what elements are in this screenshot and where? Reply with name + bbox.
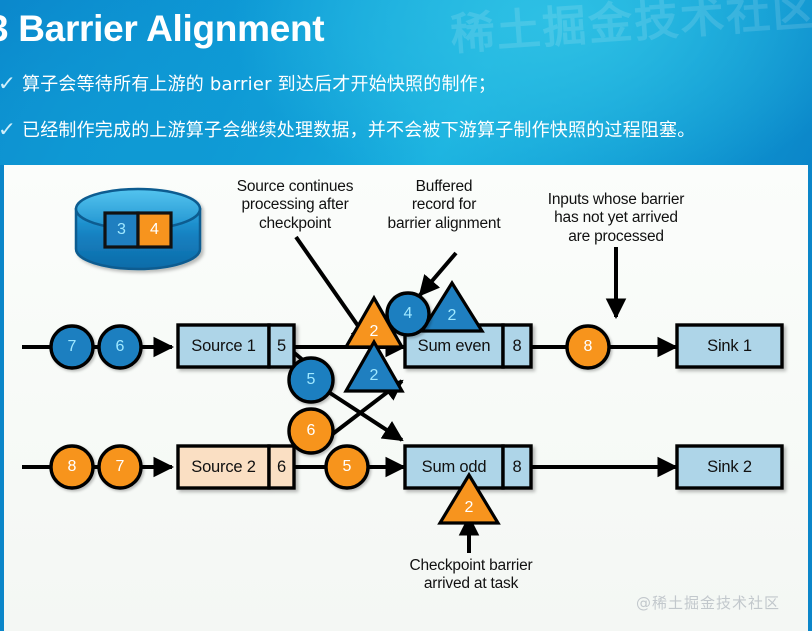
check-icon: ✓ [0, 117, 24, 142]
slide-header: 稀土掘金技术社区 3 Barrier Alignment ✓ 算子会等待所有上游… [0, 0, 812, 165]
annotation-source-continues: Source continues processing after checkp… [210, 178, 380, 233]
annotation-inputs-not-arrived: Inputs whose barrier has not yet arrived… [526, 191, 706, 246]
page-title: 3 Barrier Alignment [0, 8, 324, 50]
check-icon: ✓ [0, 71, 24, 96]
panel-watermark: @稀土掘金技术社区 [636, 592, 780, 613]
record-7-blue [51, 326, 93, 368]
barrier-odd-in-blue [346, 342, 402, 391]
record-6-blue [99, 326, 141, 368]
annotation-checkpoint-arrived: Checkpoint barrier arrived at task [381, 557, 561, 594]
header-watermark: 稀土掘金技术社区 [448, 0, 812, 63]
cross-arrow-to-sum-odd [330, 393, 402, 440]
bullet-text-1: 算子会等待所有上游的 barrier 到达后才开始快照的制作； [22, 70, 496, 96]
record-6-orange-mid [289, 409, 333, 453]
diagram-panel: Source 1 5 Source 2 6 Sum even 8 Sum odd… [0, 165, 812, 631]
slide-root: 稀土掘金技术社区 3 Barrier Alignment ✓ 算子会等待所有上游… [0, 0, 812, 631]
operator-source-1[interactable] [178, 325, 294, 367]
bullet-item-1: ✓ 算子会等待所有上游的 barrier 到达后才开始快照的制作； [0, 70, 496, 96]
operator-sink-1[interactable] [677, 325, 782, 367]
record-5-orange-mid [326, 446, 368, 488]
record-8-orange-sink1 [567, 326, 609, 368]
annotation-buffered-record: Buffered record for barrier alignment [360, 178, 528, 233]
operator-source-2[interactable] [178, 446, 294, 488]
state-cell-3 [105, 213, 138, 247]
state-cell-4 [138, 213, 171, 247]
operator-sink-2[interactable] [677, 446, 782, 488]
record-4-blue-sumeven [387, 293, 429, 335]
bullet-item-2: ✓ 已经制作完成的上游算子会继续处理数据，并不会被下游算子制作快照的过程阻塞。 [0, 116, 695, 142]
record-8-orange [51, 446, 93, 488]
bullet-text-2: 已经制作完成的上游算子会继续处理数据，并不会被下游算子制作快照的过程阻塞。 [22, 116, 695, 142]
record-5-blue-mid [289, 358, 333, 402]
record-7-orange [99, 446, 141, 488]
barrier-sumeven-top [422, 283, 482, 331]
